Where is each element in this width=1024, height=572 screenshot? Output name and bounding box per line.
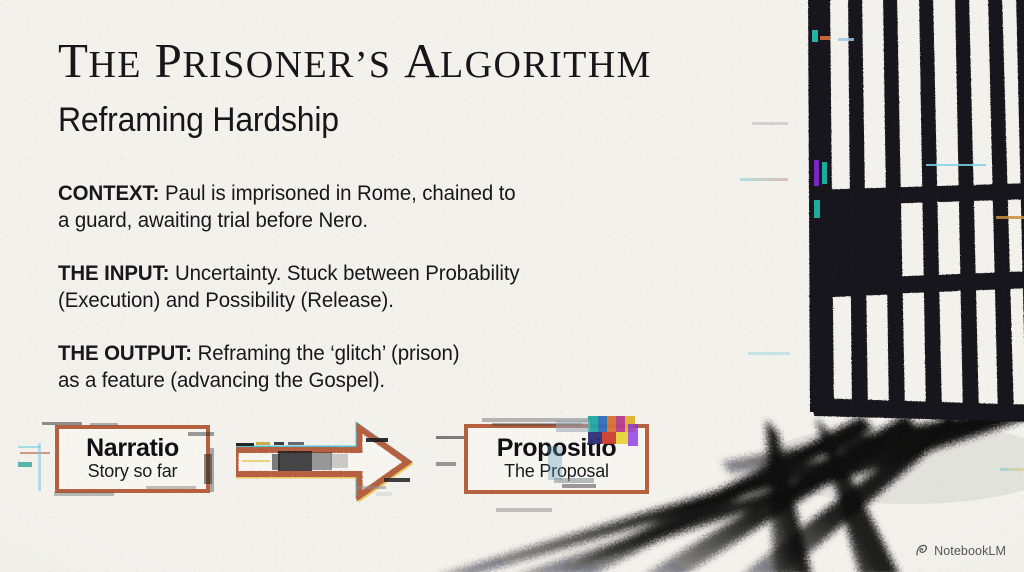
paragraph-label-context: CONTEXT: (58, 181, 159, 205)
slide-canvas: THE PRISONER’S ALGORITHM Reframing Hards… (0, 0, 1024, 572)
flow-box-propositio[interactable]: Propositio The Proposal (464, 424, 649, 494)
flow-box-narratio-subtitle: Story so far (88, 462, 178, 482)
paragraph-label-input: THE INPUT: (58, 261, 169, 285)
page-title: THE PRISONER’S ALGORITHM (58, 36, 652, 85)
flow-box-propositio-title: Propositio (497, 436, 617, 462)
flow-box-narratio[interactable]: Narratio Story so far (55, 425, 210, 493)
notebooklm-icon (914, 543, 929, 558)
paragraph-label-output: THE OUTPUT: (58, 341, 192, 365)
title-part-3-rest: LGORITHM (440, 44, 652, 86)
title-part-1-rest: HE (88, 44, 141, 86)
watermark-label: NotebookLM (934, 544, 1006, 558)
watermark: NotebookLM (914, 543, 1006, 558)
body-paragraph-input: THE INPUT: Uncertainty. Stuck between Pr… (58, 260, 520, 314)
flow-box-propositio-subtitle: The Proposal (504, 462, 609, 482)
title-part-2-rest: RISONER’S (182, 44, 391, 86)
flow-box-narratio-title: Narratio (86, 436, 179, 462)
right-arrow-icon (236, 418, 464, 506)
prison-gate-illustration (788, 0, 1024, 422)
body-paragraph-output: THE OUTPUT: Reframing the ‘glitch’ (pris… (58, 340, 460, 394)
title-part-2-cap: P (155, 33, 183, 88)
body-paragraph-context: CONTEXT: Paul is imprisoned in Rome, cha… (58, 180, 516, 234)
title-part-1-cap: T (58, 33, 88, 88)
title-part-3-cap: A (404, 33, 440, 88)
page-subtitle: Reframing Hardship (58, 103, 339, 137)
